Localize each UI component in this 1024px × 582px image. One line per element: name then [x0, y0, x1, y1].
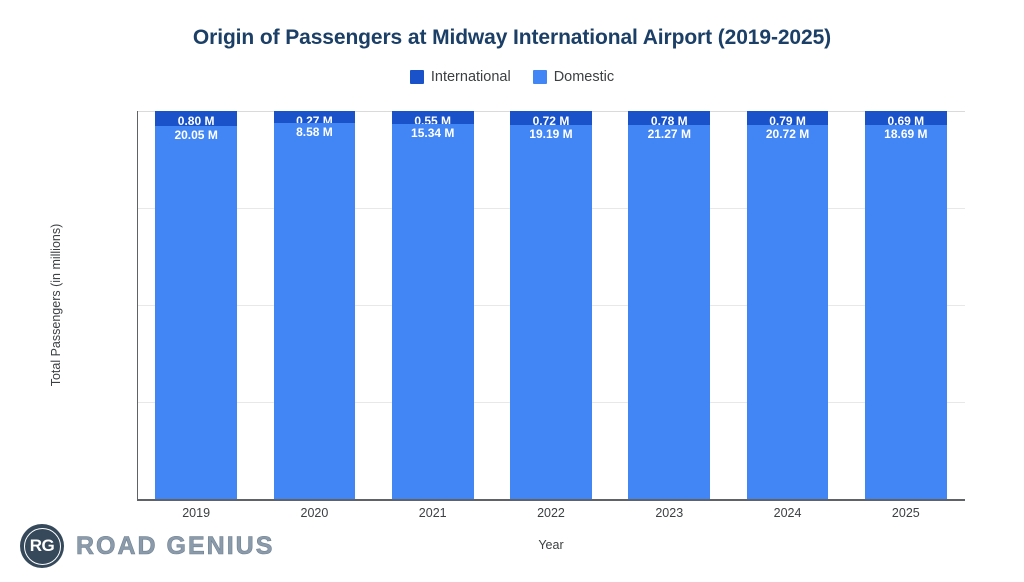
bar-segment-international[interactable]: 0.69 M [865, 111, 947, 125]
chart-plot: Total Passengers (in millions) Year 0%25… [0, 0, 1024, 582]
stacked-bar[interactable]: 0.80 M20.05 M [155, 111, 237, 499]
bar-slot: 0.78 M21.27 M [610, 111, 728, 499]
x-axis-tick-label: 2021 [374, 506, 492, 520]
bar-segment-international[interactable]: 0.55 M [392, 111, 474, 124]
stacked-bar[interactable]: 0.72 M19.19 M [510, 111, 592, 499]
logo-monogram: RG [30, 536, 55, 556]
bar-segment-domestic[interactable]: 19.19 M [510, 125, 592, 499]
x-axis-tick-label: 2025 [847, 506, 965, 520]
bar-segment-domestic[interactable]: 18.69 M [865, 125, 947, 499]
x-axis-tick-label: 2019 [137, 506, 255, 520]
y-axis-title: Total Passengers (in millions) [49, 224, 63, 387]
bar-segment-domestic[interactable]: 15.34 M [392, 124, 474, 499]
bar-segment-domestic[interactable]: 20.72 M [747, 125, 829, 499]
x-axis-tick-label: 2020 [255, 506, 373, 520]
bar-label-domestic: 18.69 M [865, 127, 947, 141]
logo-mark-icon: RG [20, 524, 64, 568]
bar-group: 0.80 M20.05 M0.27 M8.58 M0.55 M15.34 M0.… [137, 111, 965, 499]
x-axis-line [137, 499, 965, 501]
bar-segment-domestic[interactable]: 8.58 M [274, 123, 356, 499]
bar-label-domestic: 19.19 M [510, 127, 592, 141]
stacked-bar[interactable]: 0.55 M15.34 M [392, 111, 474, 499]
bar-slot: 0.69 M18.69 M [847, 111, 965, 499]
bar-segment-international[interactable]: 0.79 M [747, 111, 829, 125]
bar-slot: 0.79 M20.72 M [728, 111, 846, 499]
bar-label-domestic: 20.72 M [747, 127, 829, 141]
brand-logo: RG ROAD GENIUS [20, 524, 274, 568]
bar-segment-domestic[interactable]: 21.27 M [628, 125, 710, 499]
bar-segment-international[interactable]: 0.80 M [155, 111, 237, 126]
logo-wordmark: ROAD GENIUS [76, 532, 274, 561]
stacked-bar[interactable]: 0.69 M18.69 M [865, 111, 947, 499]
stacked-bar[interactable]: 0.78 M21.27 M [628, 111, 710, 499]
bar-label-domestic: 21.27 M [628, 127, 710, 141]
bar-segment-domestic[interactable]: 20.05 M [155, 126, 237, 499]
bar-segment-international[interactable]: 0.78 M [628, 111, 710, 125]
bar-label-domestic: 15.34 M [392, 126, 474, 140]
bar-label-domestic: 8.58 M [274, 125, 356, 139]
bar-slot: 0.72 M19.19 M [492, 111, 610, 499]
bar-slot: 0.27 M8.58 M [255, 111, 373, 499]
x-axis-ticks: 2019202020212022202320242025 [137, 506, 965, 520]
bar-slot: 0.55 M15.34 M [374, 111, 492, 499]
stacked-bar[interactable]: 0.79 M20.72 M [747, 111, 829, 499]
bar-segment-international[interactable]: 0.27 M [274, 111, 356, 123]
x-axis-tick-label: 2024 [728, 506, 846, 520]
x-axis-tick-label: 2023 [610, 506, 728, 520]
bar-label-domestic: 20.05 M [155, 128, 237, 142]
stacked-bar[interactable]: 0.27 M8.58 M [274, 111, 356, 499]
bar-segment-international[interactable]: 0.72 M [510, 111, 592, 125]
bar-slot: 0.80 M20.05 M [137, 111, 255, 499]
x-axis-tick-label: 2022 [492, 506, 610, 520]
